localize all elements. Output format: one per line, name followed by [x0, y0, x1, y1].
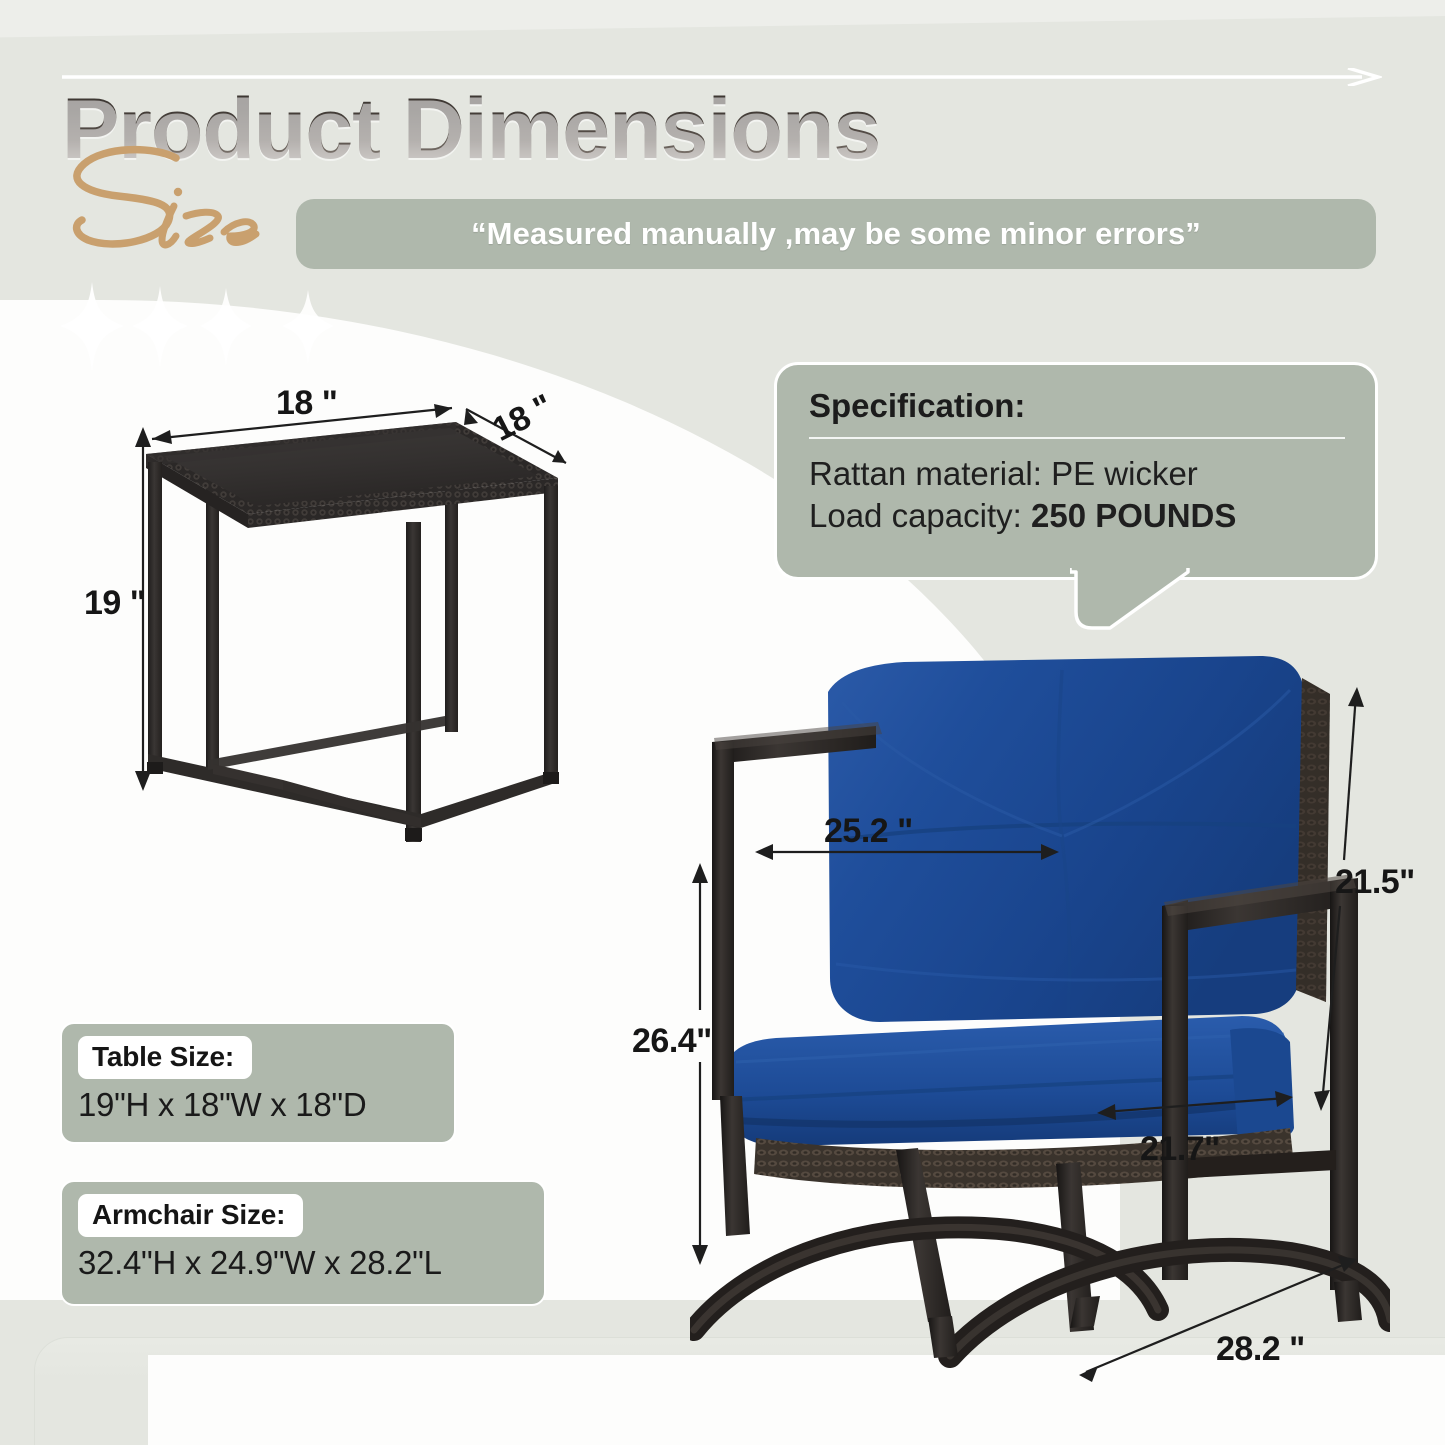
script-size-word [58, 140, 298, 270]
table-size-card: Table Size: 19"H x 18"W x 18"D [60, 1022, 456, 1144]
specification-title: Specification: [809, 387, 1345, 425]
blue-cushion-rocking-chair [690, 630, 1390, 1370]
specification-divider [809, 437, 1345, 439]
wicker-side-table [120, 382, 590, 852]
armchair-size-value: 32.4"H x 24.9"W x 28.2"L [78, 1244, 528, 1282]
armchair-size-card: Armchair Size: 32.4"H x 24.9"W x 28.2"L [60, 1180, 546, 1306]
top-slant-band [0, 0, 1445, 38]
specification-rattan-line: Rattan material: PE wicker [809, 453, 1345, 495]
chair-back-height-label: 21.5" [1335, 863, 1415, 902]
chair-seat-height-label: 26.4" [632, 1022, 712, 1061]
chair-rocker-length-label: 28.2 " [1216, 1330, 1305, 1369]
load-capacity-value: 250 POUNDS [1031, 497, 1236, 534]
table-width-label: 18 " [276, 384, 337, 423]
specification-load-line: Load capacity: 250 POUNDS [809, 495, 1345, 537]
measurement-disclaimer-banner: “Measured manually ,may be some minor er… [296, 199, 1376, 269]
armchair-size-label: Armchair Size: [78, 1194, 303, 1237]
table-size-value: 19"H x 18"W x 18"D [78, 1086, 438, 1124]
sparkle-icon [60, 282, 380, 372]
table-height-label: 19 " [84, 584, 145, 623]
chair-arm-length-label: 25.2 " [824, 812, 913, 851]
specification-card: Specification: Rattan material: PE wicke… [774, 362, 1378, 580]
load-capacity-label: Load capacity: [809, 497, 1031, 534]
chair-seat-depth-label: 21.7" [1140, 1130, 1220, 1169]
table-size-label: Table Size: [78, 1036, 252, 1079]
infographic-canvas: Product Dimensions Product Dimensions “M… [0, 0, 1445, 1445]
